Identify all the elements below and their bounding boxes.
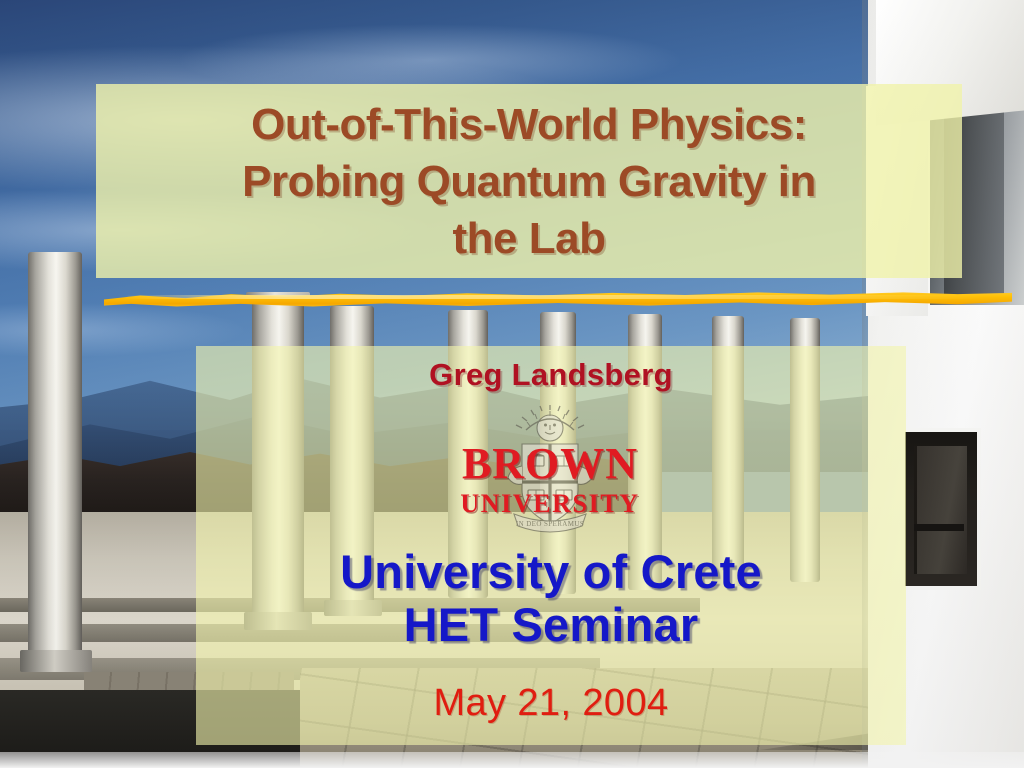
door-panel: [914, 446, 967, 574]
title-panel: Out-of-This-World Physics: Probing Quant…: [96, 84, 962, 278]
logo-wordmark-brown: BROWN: [438, 442, 662, 486]
crest-motto-text: IN DEO SPERAMUS: [516, 520, 584, 528]
column-base: [20, 650, 92, 672]
column: [28, 252, 82, 664]
brown-university-logo: IN DEO SPERAMUS BROWN UNIVERSITY: [438, 404, 662, 536]
slide-bottom-edge: [0, 752, 1024, 768]
venue-line-1: University of Crete: [196, 545, 906, 598]
presentation-slide: Out-of-This-World Physics: Probing Quant…: [0, 0, 1024, 768]
slide-date: May 21, 2004: [196, 682, 906, 725]
brush-stroke-shape: [104, 288, 1012, 310]
brush-highlight: [124, 295, 984, 299]
yellow-brush-divider: [104, 282, 1012, 318]
title-line-3: the Lab: [119, 210, 939, 267]
venue-line-2: HET Seminar: [196, 598, 906, 651]
presenter-name: Greg Landsberg: [196, 357, 906, 393]
door-rail: [914, 524, 964, 531]
slide-title: Out-of-This-World Physics: Probing Quant…: [119, 96, 939, 267]
title-line-1: Out-of-This-World Physics:: [119, 96, 939, 153]
logo-wordmark-university: UNIVERSITY: [438, 491, 662, 517]
venue-heading: University of Crete HET Seminar: [196, 545, 906, 651]
title-line-2: Probing Quantum Gravity in: [119, 153, 939, 210]
